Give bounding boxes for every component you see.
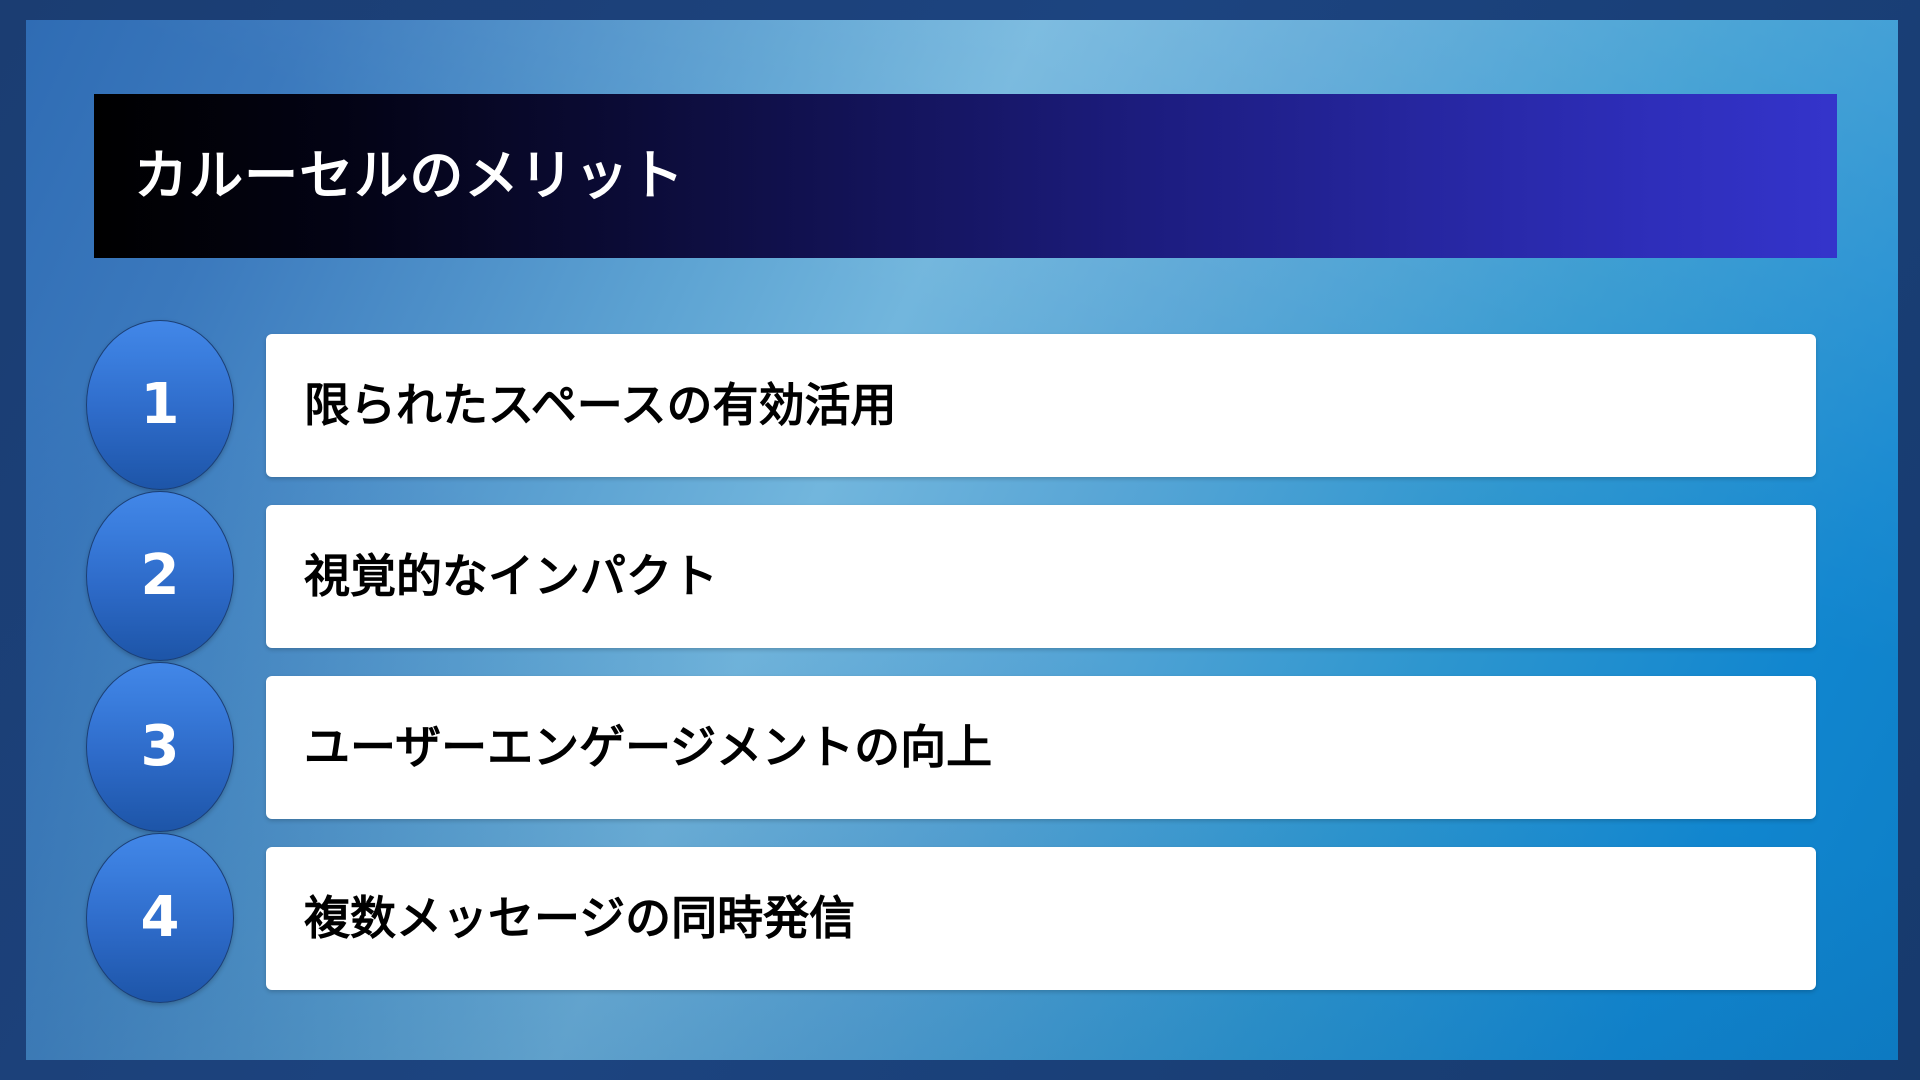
list-item[interactable]: 4 複数メッセージの同時発信 bbox=[26, 833, 1898, 1004]
list-item[interactable]: 1 限られたスペースの有効活用 bbox=[26, 320, 1898, 491]
benefit-card-label: ユーザーエンゲージメントの向上 bbox=[266, 722, 992, 773]
benefit-card[interactable]: 限られたスペースの有効活用 bbox=[266, 334, 1816, 477]
benefit-number-badge: 2 bbox=[86, 491, 234, 661]
list-item[interactable]: 3 ユーザーエンゲージメントの向上 bbox=[26, 662, 1898, 833]
benefit-number-label: 3 bbox=[141, 719, 180, 775]
benefit-number-label: 2 bbox=[141, 548, 180, 604]
benefit-card-label: 複数メッセージの同時発信 bbox=[266, 893, 855, 944]
benefit-number-badge: 1 bbox=[86, 320, 234, 490]
benefit-number-label: 1 bbox=[141, 377, 180, 433]
list-item[interactable]: 2 視覚的なインパクト bbox=[26, 491, 1898, 662]
slide-root: カルーセルのメリット 1 限られたスペースの有効活用 2 視覚 bbox=[0, 0, 1920, 1080]
slide-canvas: カルーセルのメリット 1 限られたスペースの有効活用 2 視覚 bbox=[26, 20, 1898, 1060]
benefit-card-label: 視覚的なインパクト bbox=[266, 551, 718, 602]
benefit-number-label: 4 bbox=[141, 890, 180, 946]
benefit-number-badge: 4 bbox=[86, 833, 234, 1003]
page-title: カルーセルのメリット bbox=[94, 149, 685, 203]
benefit-card[interactable]: 視覚的なインパクト bbox=[266, 505, 1816, 648]
benefit-number-badge: 3 bbox=[86, 662, 234, 832]
benefit-card[interactable]: ユーザーエンゲージメントの向上 bbox=[266, 676, 1816, 819]
benefit-card-label: 限られたスペースの有効活用 bbox=[266, 380, 896, 431]
benefit-list: 1 限られたスペースの有効活用 2 視覚的なインパクト bbox=[26, 320, 1898, 1004]
slide-outer-frame: カルーセルのメリット 1 限られたスペースの有効活用 2 視覚 bbox=[0, 0, 1920, 1080]
benefit-card[interactable]: 複数メッセージの同時発信 bbox=[266, 847, 1816, 990]
slide-title-bar: カルーセルのメリット bbox=[94, 94, 1837, 258]
